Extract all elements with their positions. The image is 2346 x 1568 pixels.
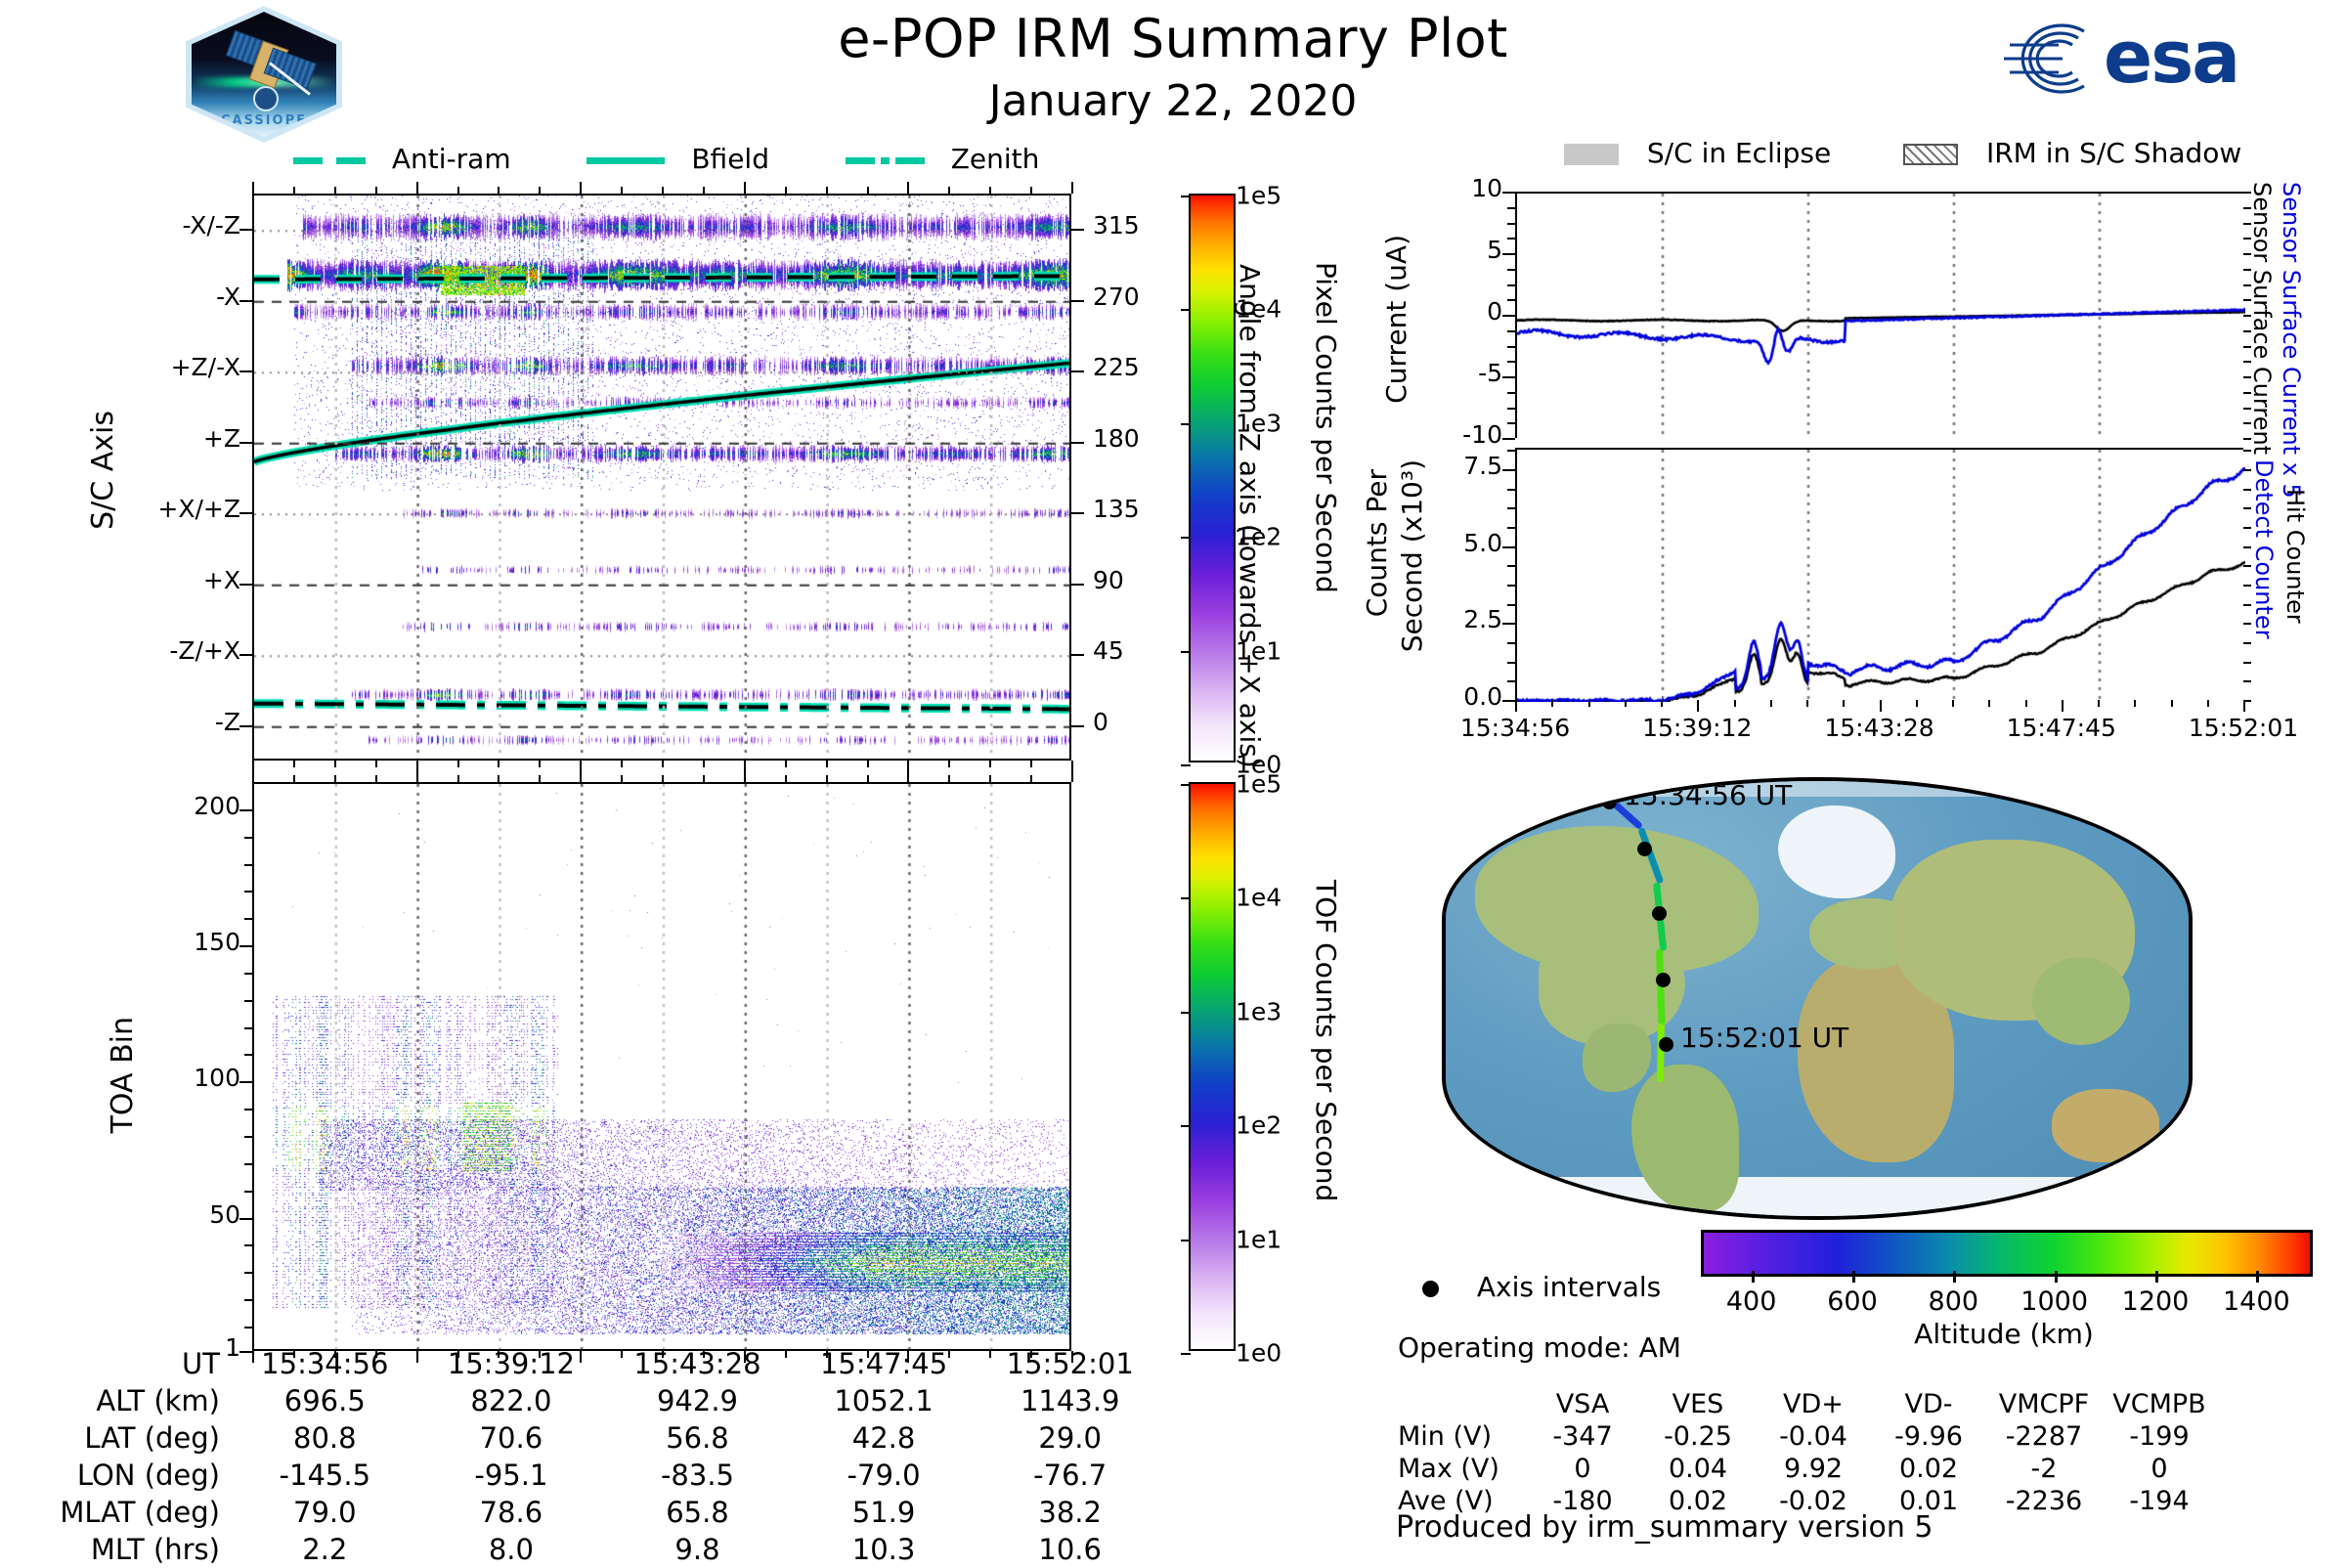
xtick bbox=[989, 761, 991, 767]
ytick-minor bbox=[244, 837, 252, 839]
voltage-column-header: VD+ bbox=[1756, 1388, 1871, 1420]
ytick-minor bbox=[1507, 315, 1515, 317]
ephemeris-cell: 822.0 bbox=[418, 1382, 605, 1419]
toa-bin-spectrogram[interactable] bbox=[252, 782, 1071, 1351]
xtick bbox=[744, 1351, 746, 1363]
legend-label-shadow: IRM in S/C Shadow bbox=[1986, 137, 2241, 169]
pixel-counts-colorbar: 1e01e11e21e31e41e5 bbox=[1189, 194, 1236, 762]
ytick-minor bbox=[1507, 469, 1515, 471]
legend-item-bfield: Bfield bbox=[586, 143, 777, 175]
xtick-top bbox=[416, 182, 418, 194]
sensor-current-x5-label: Sensor Surface Current x 5 bbox=[2278, 182, 2305, 499]
xtick-minor bbox=[1515, 700, 1517, 707]
xtick bbox=[1030, 1351, 1032, 1358]
counts-ytick-label: 5.0 bbox=[1393, 529, 1502, 557]
voltage-column-header: VSA bbox=[1525, 1388, 1640, 1420]
voltage-cell: -2287 bbox=[1986, 1420, 2102, 1453]
axis-intervals-label: Axis intervals bbox=[1477, 1271, 1661, 1303]
xtick bbox=[1030, 761, 1032, 767]
xtick-minor bbox=[1952, 700, 1954, 707]
xtick-minor bbox=[2098, 700, 2100, 707]
altitude-tick bbox=[1953, 1271, 1956, 1283]
toa-bin-ytick-label: 100 bbox=[108, 1064, 240, 1092]
xtick-top bbox=[416, 770, 418, 782]
ytick-minor bbox=[1507, 489, 1515, 491]
xtick-top bbox=[539, 187, 541, 194]
dashed-line-icon-2 bbox=[336, 157, 366, 164]
xtick-top bbox=[826, 187, 828, 194]
xtick bbox=[334, 1351, 336, 1358]
xtick bbox=[703, 761, 705, 767]
colorbar-tick bbox=[1181, 1012, 1191, 1014]
altitude-tick-label: 600 bbox=[1794, 1286, 1911, 1317]
altitude-tick-label: 1000 bbox=[1996, 1286, 2113, 1317]
voltage-cell: -199 bbox=[2102, 1420, 2217, 1453]
sc-axis-ytick-label: +Z bbox=[108, 424, 240, 453]
voltage-row: Min (V)-347-0.25-0.04-9.96-2287-199 bbox=[1398, 1420, 2217, 1453]
xtick bbox=[948, 1351, 950, 1358]
xtick-top bbox=[948, 187, 950, 194]
xtick-top bbox=[621, 187, 623, 194]
ytick-mark-right bbox=[1071, 300, 1084, 302]
sc-axis-ytick-label: -Z bbox=[108, 708, 240, 736]
ytick-minor bbox=[244, 1000, 252, 1002]
xtick bbox=[785, 761, 787, 767]
ephemeris-row-label: MLAT (deg) bbox=[29, 1494, 232, 1531]
ytick-minor bbox=[244, 973, 252, 975]
counts-xtick-label: 15:47:45 bbox=[1969, 714, 2154, 742]
xtick bbox=[826, 761, 828, 767]
xtick-minor bbox=[1843, 700, 1845, 707]
spectrogram-legend: Anti-ram Bfield Zenith bbox=[293, 143, 1039, 175]
sc-axis-angle-tick-label: 270 bbox=[1093, 283, 1161, 311]
xtick-minor bbox=[2207, 700, 2209, 707]
ephemeris-cell: 38.2 bbox=[977, 1494, 1163, 1531]
ephemeris-cell: 10.6 bbox=[977, 1531, 1163, 1568]
xtick bbox=[867, 1351, 869, 1358]
xtick-top bbox=[293, 187, 295, 194]
ytick-minor bbox=[1507, 565, 1515, 567]
ephemeris-cell: -145.5 bbox=[232, 1457, 418, 1494]
esa-logo-label: esa bbox=[2104, 16, 2238, 100]
xtick bbox=[293, 1351, 295, 1358]
xtick-top bbox=[457, 775, 459, 782]
ytick-minor bbox=[1507, 623, 1515, 625]
xtick-top bbox=[1030, 187, 1032, 194]
toa-bin-ytick-label: 150 bbox=[108, 928, 240, 956]
hit-counter-label: Hit Counter bbox=[2281, 489, 2309, 624]
colorbar-tick bbox=[1181, 764, 1191, 766]
sc-axis-ytick-label: +X/+Z bbox=[108, 495, 240, 523]
ytick-minor-right bbox=[2243, 680, 2251, 682]
ytick-minor bbox=[244, 1218, 252, 1220]
voltage-cell: -194 bbox=[2102, 1485, 2217, 1517]
ytick-mark bbox=[239, 300, 252, 302]
voltage-cell: -0.04 bbox=[1756, 1420, 1871, 1453]
ephemeris-row-label: MLT (hrs) bbox=[29, 1531, 232, 1568]
xtick bbox=[416, 1351, 418, 1363]
xtick-minor bbox=[2062, 700, 2064, 707]
ytick-minor-right bbox=[2243, 450, 2251, 452]
ytick-mark bbox=[239, 442, 252, 444]
ytick-minor bbox=[1507, 585, 1515, 587]
xtick-minor bbox=[1880, 700, 1882, 707]
ytick-minor bbox=[1507, 408, 1515, 410]
xtick-top bbox=[662, 187, 664, 194]
xtick-minor bbox=[2171, 700, 2173, 707]
ytick-minor bbox=[244, 1136, 252, 1138]
ground-track-map[interactable]: 15:34:56 UT 15:52:01 UT bbox=[1442, 777, 2193, 1220]
xtick-top bbox=[375, 775, 377, 782]
ephemeris-cell: 1143.9 bbox=[977, 1382, 1163, 1419]
operating-mode-label: Operating mode: AM bbox=[1398, 1331, 1681, 1364]
counts-xtick-label: 15:34:56 bbox=[1422, 714, 1608, 742]
ytick-mark bbox=[239, 654, 252, 656]
voltage-row-label: Min (V) bbox=[1398, 1420, 1525, 1453]
xtick-top bbox=[334, 187, 336, 194]
ytick-mark bbox=[239, 370, 252, 372]
voltage-cell: -9.96 bbox=[1871, 1420, 1986, 1453]
ephemeris-row: MLAT (deg)79.078.665.851.938.2 bbox=[29, 1494, 1163, 1531]
sc-axis-ytick-label: +Z/-X bbox=[108, 353, 240, 381]
counts-xtick-label: 15:43:28 bbox=[1787, 714, 1973, 742]
colorbar-tick bbox=[1181, 1353, 1191, 1355]
ytick-minor bbox=[244, 1027, 252, 1029]
ephemeris-cell: 2.2 bbox=[232, 1531, 418, 1568]
xtick bbox=[498, 761, 500, 767]
ephemeris-cell: 15:34:56 bbox=[232, 1345, 418, 1382]
xtick bbox=[785, 1351, 787, 1358]
ytick-minor bbox=[244, 809, 252, 811]
altitude-tick-label: 1200 bbox=[2097, 1286, 2214, 1317]
xtick-top bbox=[785, 775, 787, 782]
ytick-minor bbox=[244, 864, 252, 866]
xtick-minor bbox=[2243, 700, 2245, 707]
altitude-tick bbox=[2256, 1271, 2259, 1283]
xtick-minor bbox=[1988, 700, 1990, 707]
counts-panel[interactable] bbox=[1515, 448, 2243, 700]
xtick bbox=[580, 1351, 582, 1363]
ephemeris-cell: 696.5 bbox=[232, 1382, 418, 1419]
sc-axis-angle-tick-label: 0 bbox=[1093, 708, 1161, 736]
ephemeris-cell: 9.8 bbox=[604, 1531, 791, 1568]
ytick-minor bbox=[244, 945, 252, 947]
legend-item-anti-ram: Anti-ram bbox=[293, 143, 520, 175]
track-marker bbox=[1637, 842, 1652, 856]
ephemeris-row-label: LON (deg) bbox=[29, 1457, 232, 1494]
xtick-top bbox=[744, 182, 746, 194]
map-end-time-label: 15:52:01 UT bbox=[1680, 1022, 1848, 1054]
ephemeris-cell: 79.0 bbox=[232, 1494, 418, 1531]
voltage-header-row: VSAVESVD+VD-VMCPFVCMPB bbox=[1398, 1388, 2217, 1420]
counts-ytick-label: 7.5 bbox=[1393, 452, 1502, 480]
voltage-cell: -2236 bbox=[1986, 1485, 2102, 1517]
ytick-minor bbox=[1507, 392, 1515, 394]
xtick-top bbox=[334, 775, 336, 782]
voltage-cell: 0 bbox=[1525, 1453, 1640, 1485]
xtick-top bbox=[703, 187, 705, 194]
ytick-minor bbox=[1507, 361, 1515, 363]
legend-item-zenith: Zenith bbox=[846, 143, 1040, 175]
legend-item-shadow: IRM in S/C Shadow bbox=[1903, 137, 2241, 169]
ytick-minor bbox=[1507, 330, 1515, 332]
altitude-tick-label: 800 bbox=[1894, 1286, 2012, 1317]
sc-axis-angle-tick-label: 180 bbox=[1093, 424, 1161, 453]
xtick-top bbox=[1071, 770, 1073, 782]
altitude-colorbar-label: Altitude (km) bbox=[1701, 1318, 2307, 1350]
sc-axis-ytick-label: -Z/+X bbox=[108, 636, 240, 665]
ytick-minor bbox=[244, 918, 252, 920]
ytick-minor bbox=[244, 1299, 252, 1301]
ytick-mark-right bbox=[1071, 725, 1084, 727]
sc-axis-right-label: Angle from -Z axis (towards +X axis) bbox=[1234, 264, 1266, 768]
voltage-column-header: VD- bbox=[1871, 1388, 1986, 1420]
pixel-counts-colorbar-label: Pixel Counts per Second bbox=[1310, 262, 1342, 593]
ytick-mark-right bbox=[1071, 370, 1084, 372]
xtick-minor bbox=[1806, 700, 1808, 707]
ytick-minor bbox=[244, 1054, 252, 1056]
ytick-minor bbox=[244, 1327, 252, 1328]
xtick-top bbox=[457, 187, 459, 194]
ytick-minor bbox=[1507, 507, 1515, 509]
ytick-minor bbox=[1507, 238, 1515, 240]
sc-axis-spectrogram[interactable] bbox=[252, 194, 1071, 761]
map-start-time-label: 15:34:56 UT bbox=[1624, 779, 1792, 811]
ytick-minor bbox=[1507, 207, 1515, 209]
ephemeris-cell: 15:39:12 bbox=[418, 1345, 605, 1382]
altitude-tick bbox=[1852, 1271, 1855, 1283]
ephemeris-cell: 42.8 bbox=[791, 1419, 977, 1457]
ytick-mark bbox=[239, 229, 252, 231]
ytick-minor bbox=[1507, 700, 1515, 702]
track-marker bbox=[1652, 906, 1667, 921]
ephemeris-cell: -76.7 bbox=[977, 1457, 1163, 1494]
ytick-mark bbox=[239, 584, 252, 586]
xtick-minor bbox=[1916, 700, 1918, 707]
xtick bbox=[375, 1351, 377, 1358]
colorbar-tick bbox=[1181, 309, 1191, 311]
xtick-top bbox=[662, 775, 664, 782]
current-ytick-label: -5 bbox=[1412, 359, 1502, 387]
xtick bbox=[662, 761, 664, 767]
ephemeris-row: UT15:34:5615:39:1215:43:2815:47:4515:52:… bbox=[29, 1345, 1163, 1382]
xtick bbox=[498, 1351, 500, 1358]
current-ytick-label: 10 bbox=[1412, 174, 1502, 202]
xtick bbox=[621, 1351, 623, 1358]
esa-logo-icon: esa bbox=[1994, 14, 2317, 104]
counts-ytick-label: 0.0 bbox=[1393, 682, 1502, 711]
ephemeris-row-label: ALT (km) bbox=[29, 1382, 232, 1419]
ytick-minor-right bbox=[2243, 662, 2251, 664]
ephemeris-row: LON (deg)-145.5-95.1-83.5-79.0-76.7 bbox=[29, 1457, 1163, 1494]
voltage-row: Max (V)00.049.920.02-20 bbox=[1398, 1453, 2217, 1485]
counts-ytick-label: 2.5 bbox=[1393, 605, 1502, 633]
xtick-top bbox=[293, 775, 295, 782]
ytick-minor bbox=[244, 891, 252, 893]
xtick bbox=[539, 761, 541, 767]
current-ytick-label: -10 bbox=[1412, 420, 1502, 449]
dashdot-line-icon bbox=[846, 157, 875, 164]
cassiope-logo-icon: CASSIOPE bbox=[186, 6, 342, 143]
colorbar-tick-label: 1e1 bbox=[1236, 1225, 1282, 1253]
voltage-row-label: Max (V) bbox=[1398, 1453, 1525, 1485]
colorbar-tick bbox=[1181, 196, 1191, 197]
ytick-minor bbox=[1507, 438, 1515, 440]
xtick-minor bbox=[1770, 700, 1772, 707]
sc-axis-angle-tick-label: 135 bbox=[1093, 495, 1161, 523]
ephemeris-cell: 15:52:01 bbox=[977, 1345, 1163, 1382]
ephemeris-row: LAT (deg)80.870.656.842.829.0 bbox=[29, 1419, 1163, 1457]
xtick bbox=[703, 1351, 705, 1358]
colorbar-tick-label: 1e4 bbox=[1236, 884, 1282, 912]
current-ytick-label: 0 bbox=[1412, 297, 1502, 326]
xtick-top bbox=[498, 775, 500, 782]
xtick bbox=[375, 761, 377, 767]
right-panel-legend: S/C in Eclipse IRM in S/C Shadow bbox=[1564, 137, 2241, 169]
ytick-minor bbox=[1507, 192, 1515, 194]
ytick-minor bbox=[244, 1163, 252, 1165]
legend-label-zenith: Zenith bbox=[951, 143, 1040, 175]
detect-counter-label: Detect Counter bbox=[2250, 459, 2278, 639]
sc-axis-angle-tick-label: 225 bbox=[1093, 353, 1161, 381]
ephemeris-cell: -95.1 bbox=[418, 1457, 605, 1494]
voltage-column-header: VES bbox=[1640, 1388, 1756, 1420]
xtick-minor bbox=[1697, 700, 1699, 707]
ytick-mark bbox=[239, 725, 252, 727]
colorbar-tick bbox=[1181, 784, 1191, 786]
toa-bin-ytick-label: 50 bbox=[108, 1200, 240, 1229]
toa-bin-ytick-label: 200 bbox=[108, 792, 240, 820]
ytick-minor bbox=[1507, 680, 1515, 682]
ytick-mark bbox=[239, 512, 252, 514]
xtick-minor bbox=[2134, 700, 2136, 707]
tof-counts-colorbar: 1e01e11e21e31e41e5 bbox=[1189, 782, 1236, 1351]
footer-text: Produced by irm_summary version 5 bbox=[1396, 1510, 1933, 1545]
xtick-top bbox=[580, 770, 582, 782]
current-panel[interactable] bbox=[1515, 192, 2243, 438]
colorbar-tick bbox=[1181, 537, 1191, 539]
ephemeris-cell: 56.8 bbox=[604, 1419, 791, 1457]
xtick-top bbox=[744, 770, 746, 782]
xtick bbox=[867, 761, 869, 767]
ephemeris-row: ALT (km)696.5822.0942.91052.11143.9 bbox=[29, 1382, 1163, 1419]
xtick-top bbox=[252, 182, 254, 194]
voltage-cell: 9.92 bbox=[1756, 1453, 1871, 1485]
gray-swatch-icon bbox=[1564, 144, 1619, 165]
xtick-top bbox=[1071, 182, 1073, 194]
counts-xtick-label: 15:39:12 bbox=[1604, 714, 1790, 742]
ytick-minor bbox=[1507, 662, 1515, 664]
legend-label-anti-ram: Anti-ram bbox=[392, 143, 511, 175]
sc-axis-angle-tick-label: 315 bbox=[1093, 211, 1161, 240]
xtick bbox=[334, 761, 336, 767]
xtick-top bbox=[375, 187, 377, 194]
ytick-minor bbox=[244, 1191, 252, 1193]
dashed-line-icon bbox=[293, 157, 323, 164]
xtick-top bbox=[948, 775, 950, 782]
legend-label-eclipse: S/C in Eclipse bbox=[1647, 137, 1831, 169]
xtick bbox=[539, 1351, 541, 1358]
solid-line-icon bbox=[586, 157, 665, 164]
xtick-minor bbox=[1588, 700, 1590, 707]
ephemeris-cell: 70.6 bbox=[418, 1419, 605, 1457]
legend-item-eclipse: S/C in Eclipse bbox=[1564, 137, 1840, 169]
xtick-top bbox=[867, 775, 869, 782]
ytick-minor bbox=[244, 1109, 252, 1111]
ephemeris-row-label: LAT (deg) bbox=[29, 1419, 232, 1457]
colorbar-tick-label: 1e5 bbox=[1236, 770, 1282, 799]
ephemeris-cell: 65.8 bbox=[604, 1494, 791, 1531]
voltage-cell: -0.25 bbox=[1640, 1420, 1756, 1453]
ytick-minor bbox=[244, 1244, 252, 1246]
altitude-tick bbox=[2055, 1271, 2058, 1283]
xtick bbox=[293, 761, 295, 767]
track-marker bbox=[1659, 1037, 1673, 1052]
ephemeris-cell: -79.0 bbox=[791, 1457, 977, 1494]
sc-axis-ytick-label: +X bbox=[108, 566, 240, 594]
colorbar-tick-label: 1e3 bbox=[1236, 997, 1282, 1025]
xtick bbox=[621, 761, 623, 767]
xtick-top bbox=[907, 770, 909, 782]
xtick bbox=[1071, 1351, 1073, 1363]
sc-axis-angle-tick-label: 45 bbox=[1093, 636, 1161, 665]
counts-xtick-label: 15:52:01 bbox=[2150, 714, 2336, 742]
voltage-cell: -347 bbox=[1525, 1420, 1640, 1453]
ephemeris-table: UT15:34:5615:39:1215:43:2815:47:4515:52:… bbox=[29, 1345, 1163, 1568]
ephemeris-cell: -83.5 bbox=[604, 1457, 791, 1494]
current-ytick-label: 5 bbox=[1412, 236, 1502, 264]
dot-marker-icon bbox=[1422, 1281, 1439, 1297]
xtick bbox=[457, 1351, 459, 1358]
altitude-tick-label: 400 bbox=[1693, 1286, 1810, 1317]
ytick-minor bbox=[1507, 299, 1515, 301]
xtick bbox=[252, 1351, 254, 1363]
ephemeris-cell: 8.0 bbox=[418, 1531, 605, 1568]
colorbar-tick-label: 1e2 bbox=[1236, 1111, 1282, 1140]
xtick-top bbox=[989, 775, 991, 782]
xtick-minor bbox=[1734, 700, 1736, 707]
xtick-top bbox=[785, 187, 787, 194]
ephemeris-cell: 78.6 bbox=[418, 1494, 605, 1531]
current-ylabel: Current (uA) bbox=[1380, 235, 1412, 404]
counts-ylabel: Counts Per bbox=[1361, 469, 1393, 617]
ytick-mark-right bbox=[1071, 512, 1084, 514]
xtick-top bbox=[989, 187, 991, 194]
tof-counts-colorbar-label: TOF Counts per Second bbox=[1310, 880, 1342, 1201]
ytick-minor-right bbox=[2243, 642, 2251, 644]
xtick-top bbox=[621, 775, 623, 782]
colorbar-tick-label: 1e2 bbox=[1236, 523, 1282, 551]
ytick-minor bbox=[1507, 450, 1515, 452]
ytick-minor bbox=[1507, 284, 1515, 286]
legend-label-bfield: Bfield bbox=[691, 143, 769, 175]
ytick-minor bbox=[1507, 346, 1515, 348]
xtick bbox=[457, 761, 459, 767]
ephemeris-cell: 10.3 bbox=[791, 1531, 977, 1568]
ephemeris-cell: 1052.1 bbox=[791, 1382, 977, 1419]
ytick-minor bbox=[1507, 604, 1515, 606]
colorbar-tick bbox=[1181, 1125, 1191, 1127]
ytick-minor bbox=[1507, 269, 1515, 271]
ytick-mark-right bbox=[1071, 654, 1084, 656]
ytick-minor bbox=[1507, 642, 1515, 644]
ytick-minor bbox=[1507, 422, 1515, 424]
xtick-minor bbox=[1625, 700, 1627, 707]
sc-axis-ytick-label: -X/-Z bbox=[108, 211, 240, 240]
ytick-mark-right bbox=[1071, 229, 1084, 231]
ytick-mark-right bbox=[1071, 442, 1084, 444]
voltage-cell: 0.02 bbox=[1871, 1453, 1986, 1485]
